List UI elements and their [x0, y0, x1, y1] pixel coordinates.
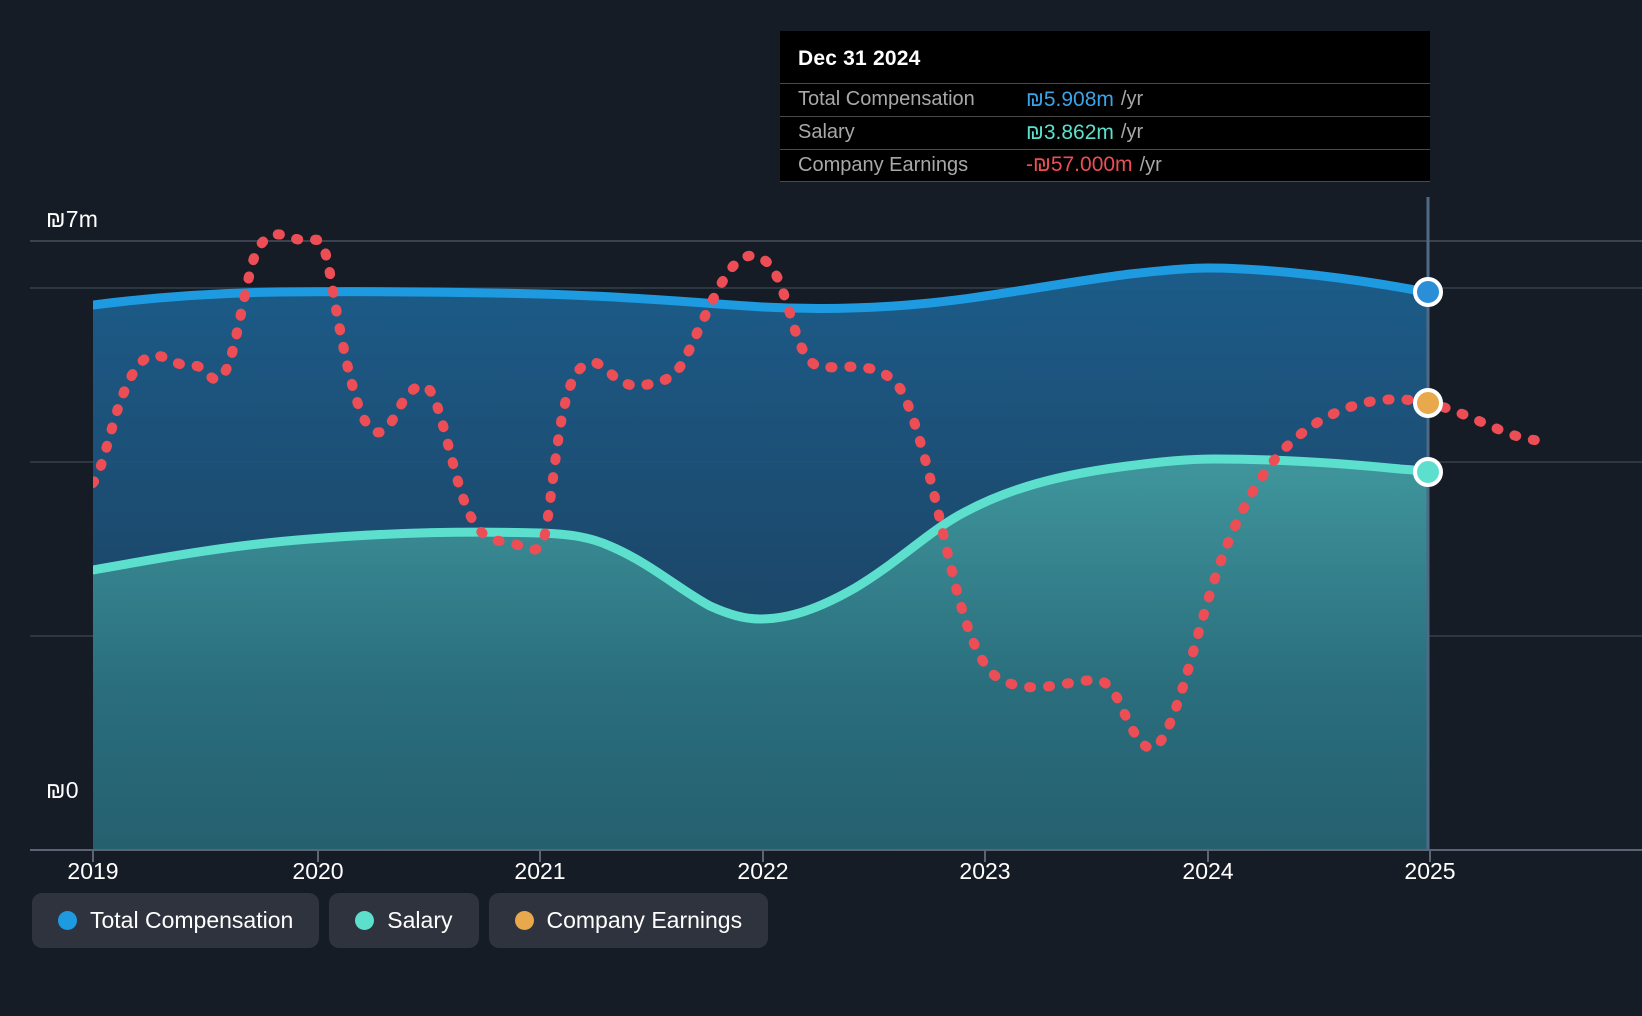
- y-axis-label-top: ₪7m: [46, 206, 98, 233]
- tooltip-row-salary: Salary ₪3.862m /yr: [780, 116, 1430, 149]
- tooltip-label-total-compensation: Total Compensation: [798, 88, 1026, 111]
- legend-item-total-compensation[interactable]: Total Compensation: [32, 893, 319, 948]
- tooltip-unit-company-earnings: /yr: [1140, 154, 1162, 177]
- tooltip-unit-salary: /yr: [1121, 121, 1143, 144]
- chart-root: ₪7m ₪0 2019 2020 2021 2022 2023 2024 202…: [0, 0, 1642, 1016]
- tooltip-value-company-earnings: -₪57.000m: [1026, 153, 1133, 177]
- x-axis-tick-2020: 2020: [292, 858, 343, 885]
- legend-label-salary: Salary: [387, 907, 452, 934]
- legend-dot-icon-salary: [355, 911, 374, 930]
- legend-dot-icon-company-earnings: [515, 911, 534, 930]
- marker-salary[interactable]: [1415, 459, 1441, 485]
- marker-total-compensation[interactable]: [1415, 279, 1441, 305]
- tooltip-title: Dec 31 2024: [780, 31, 1430, 83]
- tooltip-row-company-earnings: Company Earnings -₪57.000m /yr: [780, 149, 1430, 182]
- tooltip-row-total-compensation: Total Compensation ₪5.908m /yr: [780, 83, 1430, 116]
- tooltip-label-company-earnings: Company Earnings: [798, 154, 1026, 177]
- legend-item-company-earnings[interactable]: Company Earnings: [489, 893, 769, 948]
- x-axis: [30, 850, 1642, 862]
- legend-label-company-earnings: Company Earnings: [547, 907, 743, 934]
- y-axis-label-bottom: ₪0: [46, 777, 79, 804]
- x-axis-tick-2023: 2023: [959, 858, 1010, 885]
- x-axis-tick-2022: 2022: [737, 858, 788, 885]
- x-axis-tick-2021: 2021: [514, 858, 565, 885]
- legend-item-salary[interactable]: Salary: [329, 893, 478, 948]
- legend-dot-icon-total-compensation: [58, 911, 77, 930]
- marker-company-earnings[interactable]: [1415, 390, 1441, 416]
- legend-label-total-compensation: Total Compensation: [90, 907, 293, 934]
- legend: Total Compensation Salary Company Earnin…: [32, 893, 768, 948]
- tooltip-unit-total-compensation: /yr: [1121, 88, 1143, 111]
- tooltip-label-salary: Salary: [798, 121, 1026, 144]
- x-axis-tick-2019: 2019: [67, 858, 118, 885]
- tooltip-value-total-compensation: ₪5.908m: [1026, 88, 1114, 112]
- tooltip: Dec 31 2024 Total Compensation ₪5.908m /…: [780, 31, 1430, 182]
- x-axis-tick-2024: 2024: [1182, 858, 1233, 885]
- x-axis-tick-2025: 2025: [1404, 858, 1455, 885]
- tooltip-value-salary: ₪3.862m: [1026, 121, 1114, 145]
